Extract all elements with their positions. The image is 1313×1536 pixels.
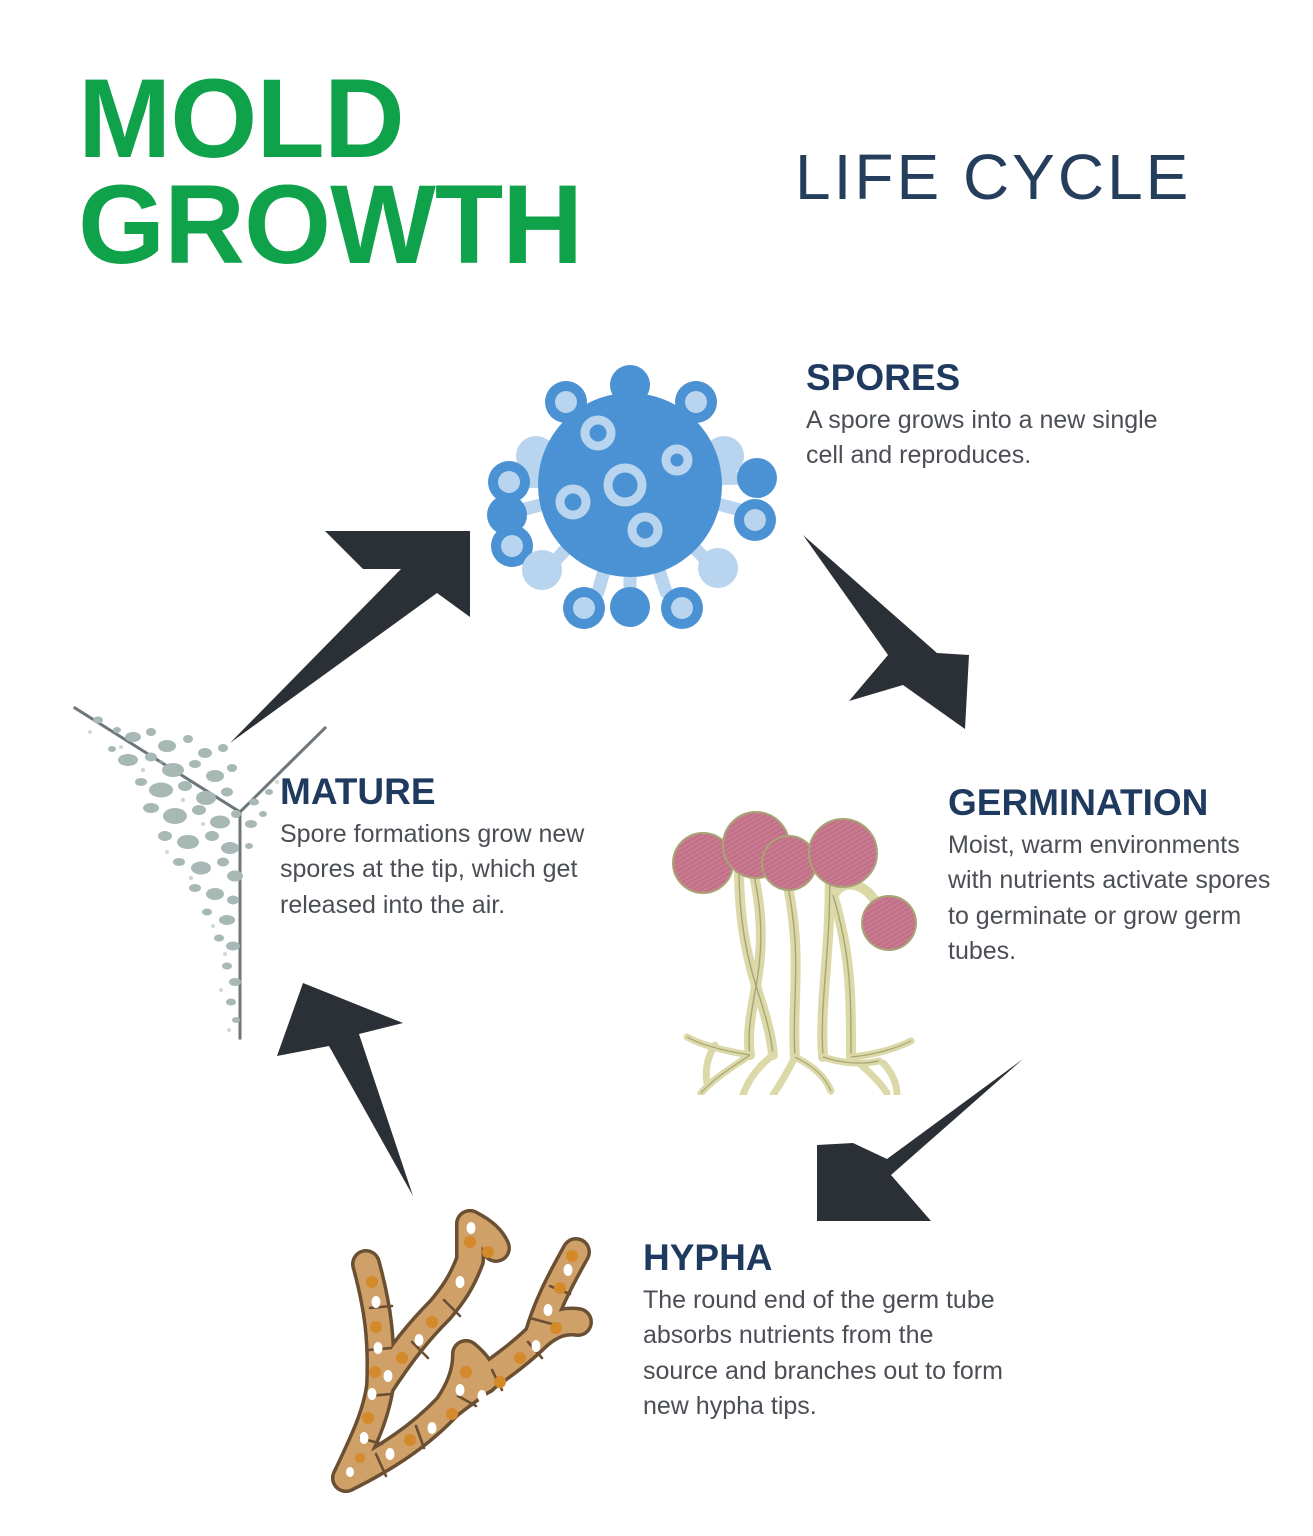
stage-heading-hypha: HYPHA: [643, 1238, 1015, 1279]
stage-block-spores: SPORES A spore grows into a new single c…: [806, 358, 1158, 474]
stage-body-mature: Spore formations grow new spores at the …: [280, 817, 590, 924]
stage-block-hypha: HYPHA The round end of the germ tube abs…: [643, 1238, 1015, 1425]
spore-body: [538, 393, 722, 577]
stage-heading-spores: SPORES: [806, 358, 1158, 399]
mold-growth-infographic: MOLD GROWTH LIFE CYCLE: [0, 0, 1313, 1536]
arrow-spores-to-germination: [785, 505, 1025, 735]
page-title: MOLD GROWTH: [78, 66, 718, 279]
stage-body-hypha: The round end of the germ tube absorbs n…: [643, 1283, 1015, 1425]
stage-body-germination: Moist, warm environments with nutrients …: [948, 828, 1288, 970]
arrow-germination-to-hypha: [795, 1045, 1045, 1245]
mold-spots: [88, 717, 279, 1033]
stage-block-mature: MATURE Spore formations grow new spores …: [280, 772, 590, 923]
arrow-hypha-to-mature: [255, 950, 465, 1205]
stage-body-spores: A spore grows into a new single cell and…: [806, 403, 1158, 474]
branching-hypha-icon: [320, 1190, 630, 1500]
stage-heading-germination: GERMINATION: [948, 783, 1288, 824]
stage-block-germination: GERMINATION Moist, warm environments wit…: [948, 783, 1288, 970]
spore-cell-icon: [470, 330, 790, 640]
stage-heading-mature: MATURE: [280, 772, 590, 813]
arrow-mature-to-spores: [225, 495, 515, 745]
page-subtitle: LIFE CYCLE: [795, 140, 1191, 214]
